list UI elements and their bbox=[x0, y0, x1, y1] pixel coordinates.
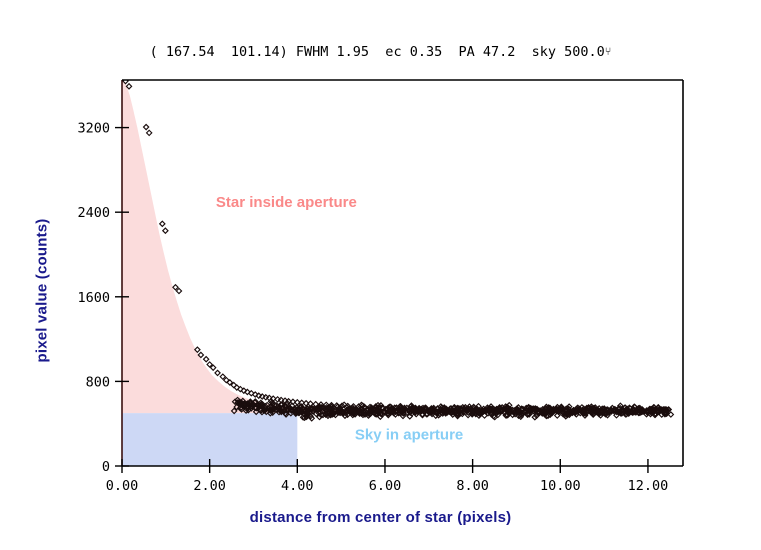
y-tick-label: 3200 bbox=[77, 121, 110, 137]
x-tick-label: 4.00 bbox=[281, 478, 314, 494]
x-tick-label: 6.00 bbox=[369, 478, 402, 494]
y-tick-label: 2400 bbox=[77, 205, 110, 221]
y-tick-label: 800 bbox=[86, 374, 110, 390]
x-tick-label: 2.00 bbox=[193, 478, 226, 494]
x-tick-label: 0.00 bbox=[106, 478, 139, 494]
x-tick-label: 12.00 bbox=[628, 478, 669, 494]
x-tick-label: 10.00 bbox=[540, 478, 581, 494]
x-axis-title: distance from center of star (pixels) bbox=[0, 509, 761, 526]
radial-profile-chart: 0800160024003200 0.002.004.006.008.0010.… bbox=[0, 0, 761, 550]
annotation-sky-in-aperture: Sky in aperture bbox=[355, 427, 463, 444]
sky-in-aperture-region bbox=[122, 413, 297, 466]
x-tick-label: 8.00 bbox=[456, 478, 489, 494]
plot-canvas: ( 167.54 101.14) FWHM 1.95 ec 0.35 PA 47… bbox=[0, 0, 761, 550]
annotation-star-inside-aperture: Star inside aperture bbox=[216, 194, 357, 211]
y-tick-label: 1600 bbox=[77, 290, 110, 306]
y-tick-label: 0 bbox=[102, 459, 110, 475]
y-axis-title: pixel value (counts) bbox=[34, 181, 51, 401]
